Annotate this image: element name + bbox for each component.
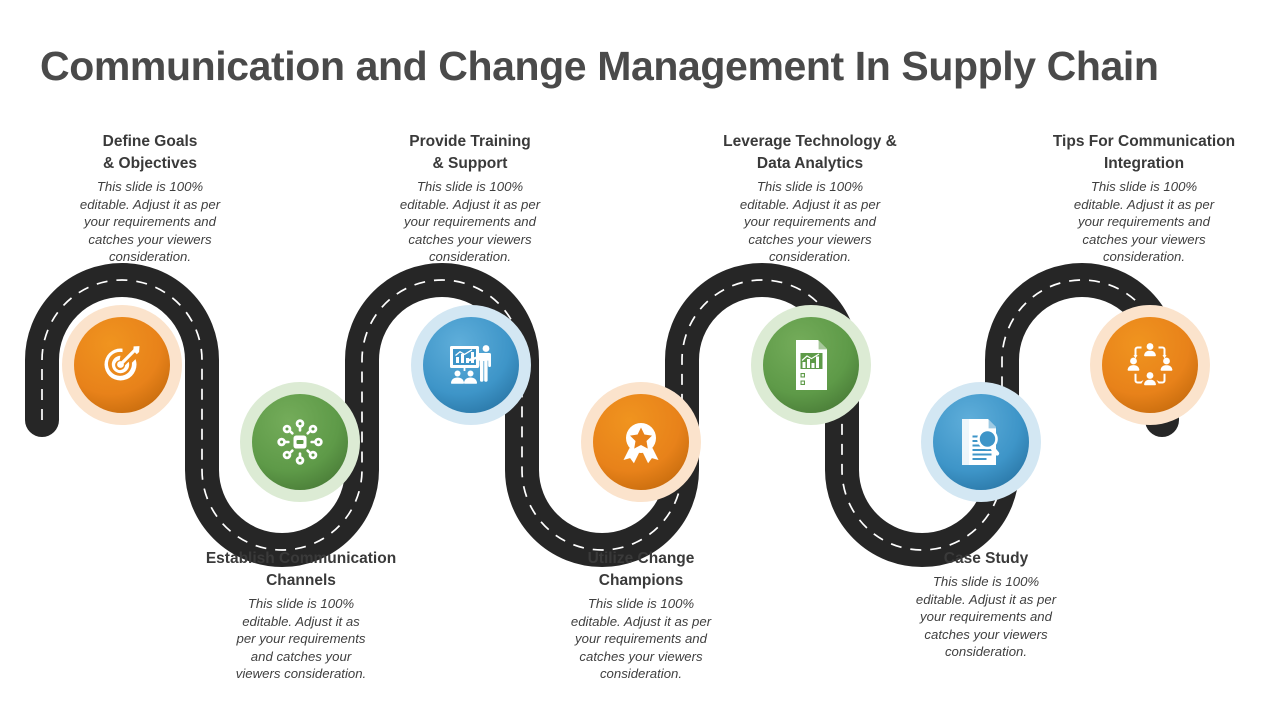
report-chart-document-icon	[788, 338, 834, 392]
step-body-6: This slide is 100% editable. Adjust it a…	[888, 573, 1084, 661]
slide-canvas: Communication and Change Management In S…	[0, 0, 1280, 720]
target-arrow-icon	[97, 340, 147, 390]
node-disc-7	[1102, 317, 1198, 413]
step-body-2: This slide is 100% editable. Adjust it a…	[196, 595, 406, 683]
step-node-7[interactable]	[1090, 305, 1210, 425]
step-node-1[interactable]	[62, 305, 182, 425]
step-text-3: Provide Training & Support This slide is…	[377, 131, 563, 266]
people-cycle-icon	[1124, 339, 1176, 391]
step-heading-3: Provide Training & Support	[377, 131, 563, 175]
document-magnifier-icon	[956, 416, 1006, 468]
step-text-2: Establish Communication Channels This sl…	[196, 548, 406, 683]
step-body-3: This slide is 100% editable. Adjust it a…	[377, 178, 563, 266]
node-disc-3	[423, 317, 519, 413]
step-body-4: This slide is 100% editable. Adjust it a…	[548, 595, 734, 683]
step-body-5: This slide is 100% editable. Adjust it a…	[712, 178, 908, 266]
step-node-3[interactable]	[411, 305, 531, 425]
node-disc-4	[593, 394, 689, 490]
step-heading-1: Define Goals & Objectives	[57, 131, 243, 175]
node-disc-5	[763, 317, 859, 413]
step-text-7: Tips For Communication Integration This …	[1046, 131, 1242, 266]
step-body-1: This slide is 100% editable. Adjust it a…	[57, 178, 243, 266]
step-heading-2: Establish Communication Channels	[196, 548, 406, 592]
node-disc-2	[252, 394, 348, 490]
step-text-5: Leverage Technology & Data Analytics Thi…	[712, 131, 908, 266]
step-text-4: Utilize Change Champions This slide is 1…	[548, 548, 734, 683]
step-heading-6: Case Study	[888, 548, 1084, 570]
step-node-4[interactable]	[581, 382, 701, 502]
step-text-6: Case Study This slide is 100% editable. …	[888, 548, 1084, 661]
node-disc-6	[933, 394, 1029, 490]
award-medal-star-icon	[616, 417, 666, 467]
step-heading-5: Leverage Technology & Data Analytics	[712, 131, 908, 175]
training-presentation-icon	[444, 339, 498, 391]
step-heading-7: Tips For Communication Integration	[1046, 131, 1242, 175]
step-node-2[interactable]	[240, 382, 360, 502]
step-body-7: This slide is 100% editable. Adjust it a…	[1046, 178, 1242, 266]
step-node-6[interactable]	[921, 382, 1041, 502]
step-text-1: Define Goals & Objectives This slide is …	[57, 131, 243, 266]
step-heading-4: Utilize Change Champions	[548, 548, 734, 592]
step-node-5[interactable]	[751, 305, 871, 425]
node-disc-1	[74, 317, 170, 413]
network-hub-icon	[274, 416, 326, 468]
